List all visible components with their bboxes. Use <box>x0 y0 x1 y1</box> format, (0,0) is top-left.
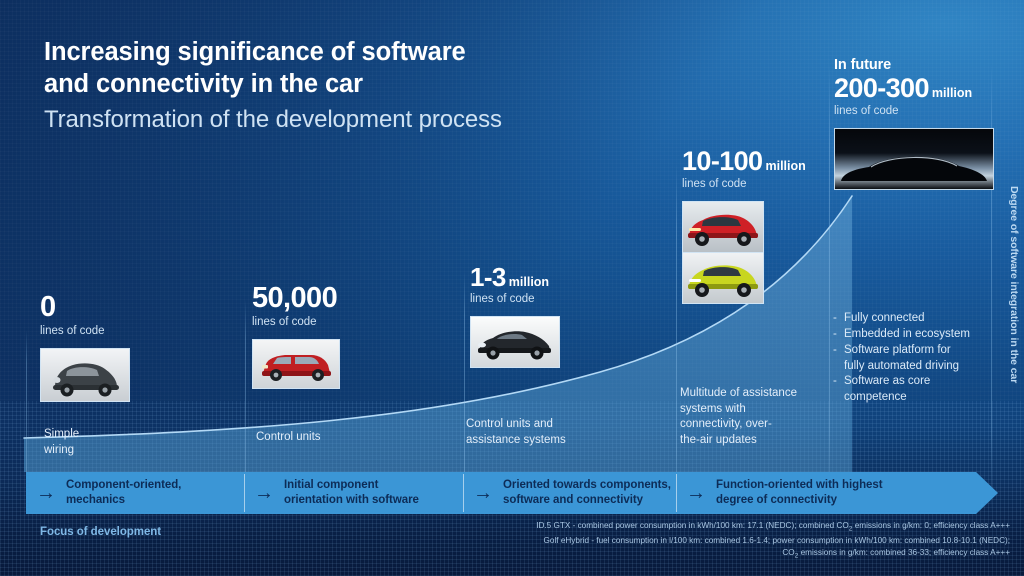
milestone-50000-value: 50,000 <box>252 284 340 313</box>
milestone-10-100-million-lines-label: lines of code <box>682 178 806 192</box>
milestone-50000-caption: Control units <box>256 430 416 446</box>
phase-label-1: Component-oriented, mechanics <box>66 478 181 508</box>
milestone-200-300-million-value: 200-300 <box>834 75 929 102</box>
footnote-line-3-part-c: emissions in g/km: combined 36-33; effic… <box>798 548 1010 557</box>
vw-passat-photo <box>470 316 560 368</box>
milestone-0-lines-label: lines of code <box>40 325 130 339</box>
milestone-10-100-million-unit: million <box>765 160 805 173</box>
vw-beetle-photo <box>40 348 130 402</box>
vw-id5-gtx-photo <box>682 201 764 253</box>
page-title: Increasing significance of software and … <box>44 36 502 100</box>
future-feature-list: Fully connected Embedded in ecosystem So… <box>833 311 998 406</box>
milestone-200-300-million-lines-label: lines of code <box>834 105 994 119</box>
arrow-right-icon: → <box>686 483 716 503</box>
future-car-silhouette-photo <box>834 128 994 190</box>
milestone-0-caption: Simple wiring <box>44 427 164 458</box>
phase-label-2: Initial component orientation with softw… <box>284 478 419 508</box>
phase-segment-4[interactable]: → Function-oriented with highest degree … <box>676 472 976 514</box>
milestone-1-3-million-caption: Control units and assistance systems <box>466 417 646 448</box>
milestone-200-300-million-prefix: In future <box>834 58 994 74</box>
vertical-axis-label: Degree of software integration in the ca… <box>1008 186 1020 383</box>
footnote-line-1: ID.5 GTX - combined power consumption in… <box>370 520 1010 535</box>
arrow-right-icon: → <box>473 483 503 503</box>
list-item: Software as core competence <box>833 374 998 406</box>
header-block: Increasing significance of software and … <box>44 36 502 136</box>
milestone-1-3-million-unit: million <box>509 276 549 289</box>
milestone-200-300-million-unit: million <box>932 87 972 100</box>
phase-label-4: Function-oriented with highest degree of… <box>716 478 883 508</box>
phase-label-3: Oriented towards components, software an… <box>503 478 671 508</box>
milestone-1-3-million-lines: 1-3 million lines of code <box>470 264 560 368</box>
milestone-10-100-million-lines: 10-100 million lines of code <box>682 148 806 304</box>
phase-segment-3[interactable]: → Oriented towards components, software … <box>463 472 676 514</box>
footnote-block: ID.5 GTX - combined power consumption in… <box>370 520 1010 562</box>
vw-golf-8-photo <box>682 253 764 304</box>
footnote-line-1-part-c: emissions in g/km: 0; efficiency class A… <box>852 521 1010 530</box>
focus-of-development-label: Focus of development <box>40 526 161 538</box>
milestone-200-300-million-lines: In future 200-300 million lines of code <box>834 58 994 190</box>
footnote-line-3: CO2 emissions in g/km: combined 36-33; e… <box>370 547 1010 562</box>
page-title-line-2: and connectivity in the car <box>44 70 363 98</box>
milestone-0-value: 0 <box>40 293 130 322</box>
milestone-50000-lines-label: lines of code <box>252 316 340 330</box>
footnote-line-2: Golf eHybrid - fuel consumption in l/100… <box>370 535 1010 547</box>
vw-golf-mk2-photo <box>252 339 340 389</box>
milestone-10-100-million-value: 10-100 <box>682 148 762 175</box>
development-phase-band: → Component-oriented, mechanics → Initia… <box>26 472 998 514</box>
milestone-50000-lines: 50,000 lines of code <box>252 284 340 389</box>
list-item: Embedded in ecosystem <box>833 327 998 343</box>
arrow-right-icon: → <box>36 483 66 503</box>
arrow-right-icon: → <box>254 483 284 503</box>
footnote-line-1-part-a: ID.5 GTX - combined power consumption in… <box>536 521 849 530</box>
column-divider-4 <box>676 164 677 512</box>
infographic-canvas: Increasing significance of software and … <box>0 0 1024 576</box>
list-item: Fully connected <box>833 311 998 327</box>
milestone-1-3-million-lines-label: lines of code <box>470 293 560 307</box>
column-divider-5 <box>829 64 830 512</box>
page-title-line-1: Increasing significance of software <box>44 38 466 66</box>
footnote-line-3-part-a: CO <box>782 548 794 557</box>
page-subtitle: Transformation of the development proces… <box>44 105 502 136</box>
milestone-10-100-million-caption: Multitude of assistance systems with con… <box>680 386 825 448</box>
milestone-1-3-million-value: 1-3 <box>470 264 506 290</box>
milestone-0-lines: 0 lines of code <box>40 293 130 402</box>
phase-segment-2[interactable]: → Initial component orientation with sof… <box>244 472 463 514</box>
list-item: Software platform for fully automated dr… <box>833 343 998 375</box>
phase-segment-1[interactable]: → Component-oriented, mechanics <box>26 472 244 514</box>
